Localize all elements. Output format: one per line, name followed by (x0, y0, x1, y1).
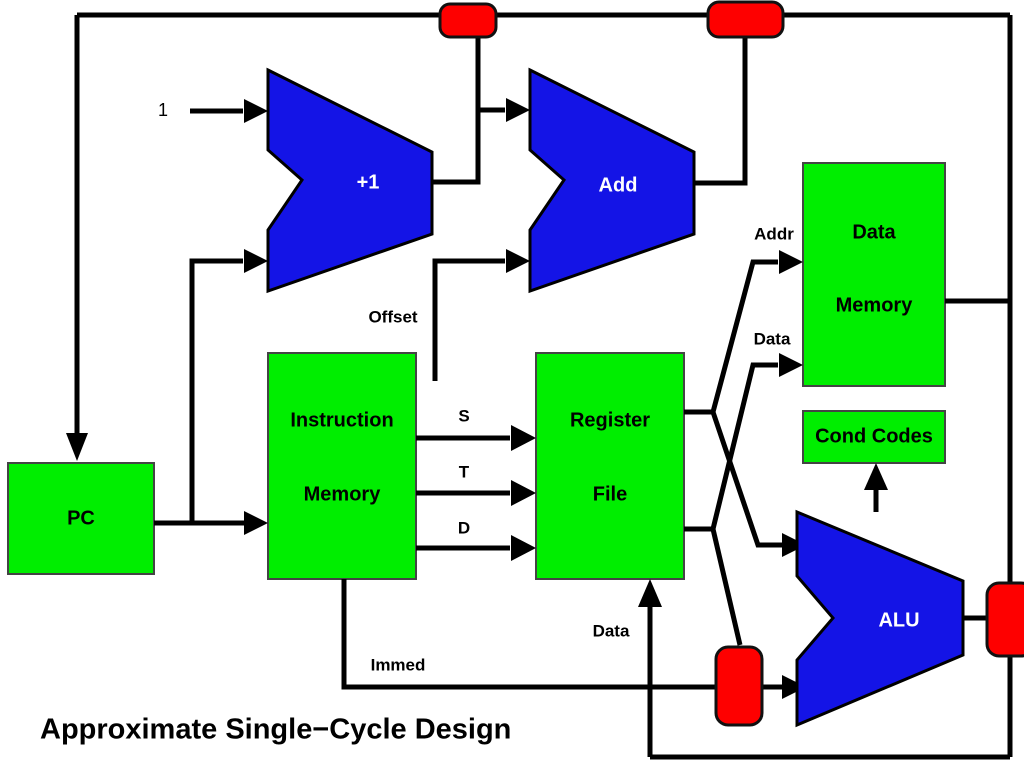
cond-codes-label: Cond Codes (815, 425, 933, 447)
register-file-write-arrowhead (638, 579, 662, 607)
datapath-canvas: PC Instruction Memory Register File Data… (0, 0, 1024, 768)
incrementer-label: +1 (357, 171, 380, 193)
label-layer: PC Instruction Memory Register File Data… (40, 100, 933, 746)
wire-regfile-bottom-down (713, 529, 740, 645)
pc-register-left[interactable] (440, 4, 496, 37)
alu-operand-register[interactable] (716, 647, 762, 725)
wire-layer-cond-codes (864, 463, 888, 512)
alu-label: ALU (878, 609, 919, 631)
incrementer-block[interactable] (268, 70, 432, 291)
wire-offset-to-adder (435, 261, 505, 381)
constant-one-label: 1 (158, 100, 168, 120)
diagram-title: Approximate Single−Cycle Design (40, 714, 511, 746)
field-d-arrowhead (511, 535, 536, 561)
register-file-group (536, 353, 684, 579)
incrementer-lower-input-arrowhead (244, 249, 268, 273)
pc-register-right[interactable] (708, 2, 783, 37)
alu-result-register[interactable] (987, 583, 1024, 656)
pc-input-arrowhead (66, 433, 88, 461)
mem-data-label: Data (754, 329, 791, 348)
data-memory-block[interactable] (803, 163, 945, 386)
data-memory-group (803, 163, 945, 386)
wire-adder-out-to-reg2 (694, 36, 745, 183)
wire-incrementer-out-to-reg1 (432, 35, 478, 182)
adder-lower-input-arrowhead (506, 249, 530, 273)
register-file-label-line1: Register (570, 409, 650, 431)
field-d-label: D (458, 518, 470, 537)
writeback-data-label: Data (593, 621, 630, 640)
adder-upper-input-arrowhead (506, 98, 530, 122)
instruction-memory-block[interactable] (268, 353, 416, 579)
register-file-block[interactable] (536, 353, 684, 579)
data-memory-label-line2: Memory (836, 294, 914, 316)
wire-layer-instruction-fields (416, 425, 536, 561)
register-file-label-line2: File (593, 483, 627, 505)
field-t-arrowhead (511, 480, 536, 506)
data-memory-data-arrowhead (779, 353, 803, 377)
wire-layer-incrementer-out (432, 35, 530, 182)
wire-layer-pc-fetch (154, 249, 268, 535)
datapath-diagram: PC Instruction Memory Register File Data… (0, 0, 1024, 768)
wire-layer-offset (435, 249, 530, 381)
pc-block-group (8, 433, 154, 574)
pc-label: PC (67, 507, 95, 529)
mem-addr-label: Addr (754, 224, 794, 243)
instruction-memory-label-line2: Memory (304, 483, 382, 505)
wire-layer-regfile-outputs (684, 250, 806, 645)
offset-label: Offset (368, 307, 417, 326)
instruction-memory-group (268, 353, 416, 579)
incrementer-group (268, 70, 432, 291)
adder-label: Add (599, 174, 638, 196)
field-s-label: S (458, 406, 469, 425)
immediate-label: Immed (371, 655, 426, 674)
wire-layer-adder-out (694, 36, 745, 183)
instruction-memory-label-line1: Instruction (290, 409, 393, 431)
field-s-arrowhead (511, 425, 536, 451)
field-t-label: T (459, 462, 470, 481)
incrementer-upper-input-arrowhead (244, 99, 268, 123)
data-memory-label-line1: Data (852, 221, 896, 243)
cond-codes-arrowhead (864, 463, 888, 490)
wire-pc-branch-to-incrementer (192, 261, 243, 523)
wire-layer-writeback (638, 579, 662, 607)
wire-layer-constant-one (190, 99, 268, 123)
imem-addr-arrowhead (244, 511, 268, 535)
data-memory-addr-arrowhead (779, 250, 803, 274)
